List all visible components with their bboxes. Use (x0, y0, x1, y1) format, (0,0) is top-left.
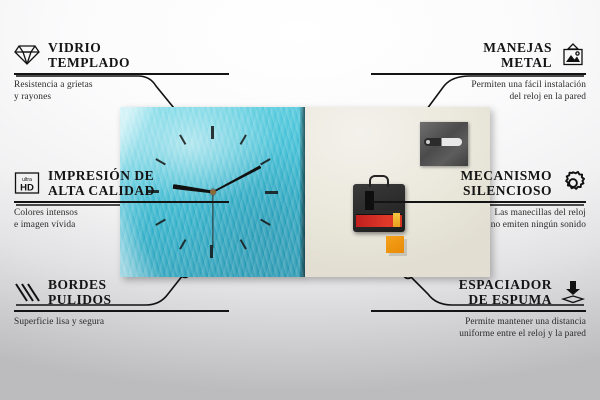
feature-title-line1: IMPRESIÓN DE (48, 168, 154, 183)
feature-subtitle-line1: Permiten una fácil instalación (471, 80, 586, 90)
feature-subtitle-line1: Permite mantener una distancia (465, 317, 586, 327)
feature-divider (14, 73, 229, 75)
feature-divider (371, 201, 586, 203)
feature-subtitle-line1: Superficie lisa y segura (14, 317, 104, 327)
feature-title-line2: SILENCIOSO (463, 183, 552, 198)
feature-impresion-alta-calidad: ultra HD IMPRESIÓN DE ALTA CALIDAD Color… (14, 168, 229, 231)
feature-subtitle-line2: e imagen vívida (14, 220, 75, 230)
down-arrow-stack-icon (560, 279, 586, 305)
feature-subtitle-line1: Las manecillas del reloj (494, 208, 586, 218)
feature-vidrio-templado: VIDRIO TEMPLADO Resistencia a grietas y … (14, 40, 229, 103)
feature-title-line1: ESPACIADOR (459, 277, 552, 292)
feature-divider (371, 73, 586, 75)
feature-title-line2: TEMPLADO (48, 55, 130, 70)
feature-title-line1: VIDRIO (48, 40, 101, 55)
foam-spacer (386, 236, 404, 253)
ultra-hd-icon: ultra HD (14, 170, 40, 196)
feature-title-line2: PULIDOS (48, 292, 112, 307)
feature-subtitle-line2: y rayones (14, 92, 51, 102)
diamond-icon (14, 42, 40, 68)
feature-title-line1: MANEJAS (483, 40, 552, 55)
infographic-stage: VIDRIO TEMPLADO Resistencia a grietas y … (0, 0, 600, 400)
feature-title-line2: DE ESPUMA (468, 292, 552, 307)
feature-title-line1: BORDES (48, 277, 107, 292)
metal-hanger-plate (420, 122, 468, 166)
feature-subtitle-line1: Colores intensos (14, 208, 78, 218)
feature-manejas-metal: MANEJAS METAL Permiten una fácil instala… (371, 40, 586, 103)
feature-divider (14, 201, 229, 203)
feature-title-line1: MECANISMO (461, 168, 553, 183)
feature-divider (14, 310, 229, 312)
feature-title-line2: ALTA CALIDAD (48, 183, 155, 198)
feature-subtitle-line2: uniforme entre el reloj y la pared (459, 329, 586, 339)
feature-subtitle-line1: Resistencia a grietas (14, 80, 93, 90)
feature-divider (371, 310, 586, 312)
svg-text:HD: HD (20, 183, 34, 194)
feature-mecanismo-silencioso: MECANISMO SILENCIOSO Las manecillas del … (371, 168, 586, 231)
feature-bordes-pulidos: BORDES PULIDOS Superficie lisa y segura (14, 277, 229, 328)
feature-espaciador-espuma: ESPACIADOR DE ESPUMA Permite mantener un… (371, 277, 586, 340)
feature-subtitle-line2: no emiten ningún sonido (491, 220, 586, 230)
framed-picture-icon (560, 42, 586, 68)
gear-icon (560, 170, 586, 196)
feature-subtitle-line2: del reloj en la pared (509, 92, 586, 102)
feature-title-line2: METAL (501, 55, 552, 70)
diagonal-lines-icon (14, 279, 40, 305)
hanger-slot (424, 138, 461, 146)
